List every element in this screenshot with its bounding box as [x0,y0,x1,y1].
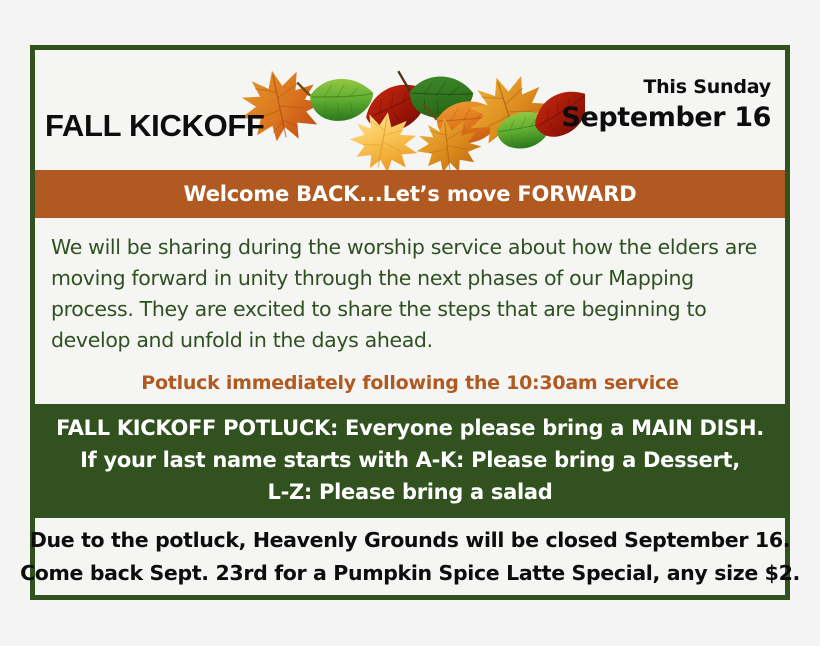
potluck-instruction-line-3: L-Z: Please bring a salad [45,476,775,508]
event-date: This Sunday September 16 [561,75,771,135]
event-date-label: This Sunday [561,75,771,99]
welcome-banner: Welcome BACK...Let’s move FORWARD [35,170,785,218]
potluck-instructions: FALL KICKOFF POTLUCK: Everyone please br… [35,404,785,518]
heavenly-grounds-notice: Due to the potluck, Heavenly Grounds wil… [35,518,785,595]
potluck-instruction-line-1: FALL KICKOFF POTLUCK: Everyone please br… [45,412,775,444]
notice-line-2: Come back Sept. 23rd for a Pumpkin Spice… [20,557,800,590]
potluck-time-note: Potluck immediately following the 10:30a… [51,372,769,394]
event-date-value: September 16 [561,101,771,135]
autumn-leaves-icon [235,52,585,170]
flyer-header: FALL KICKOFF This Sunday September 16 [35,50,785,170]
body-section: We will be sharing during the worship se… [35,218,785,404]
notice-line-1: Due to the potluck, Heavenly Grounds wil… [30,524,790,557]
body-paragraph: We will be sharing during the worship se… [51,232,769,356]
fall-kickoff-flyer: FALL KICKOFF This Sunday September 16 We… [30,45,790,600]
page-title: FALL KICKOFF [45,108,265,144]
potluck-instruction-line-2: If your last name starts with A-K: Pleas… [45,444,775,476]
